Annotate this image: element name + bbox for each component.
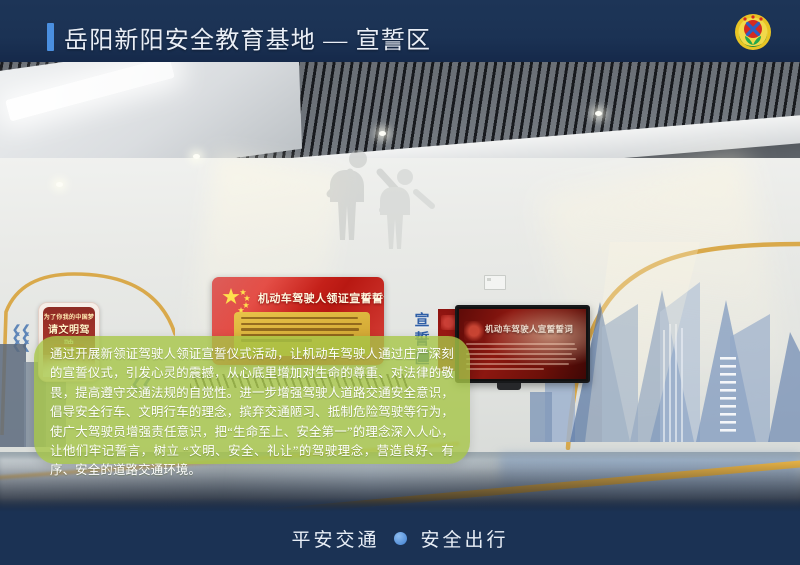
oath-board-title: 机动车驾驶人领证宣誓誓词 — [258, 290, 384, 306]
header-accent-bar — [47, 23, 54, 51]
display-title: 机动车驾驶人宣誓誓词 — [485, 323, 573, 335]
ceiling-spotlight-2 — [193, 154, 200, 159]
poster-line-1: 为了你我的中国梦 — [43, 312, 95, 321]
footer-slogan-left: 平安交通 — [291, 525, 379, 552]
display-mount — [497, 383, 521, 390]
vsign-char-1: 宣 — [411, 311, 433, 330]
display-body-text — [466, 343, 578, 373]
ceiling-spotlight-3 — [379, 131, 386, 136]
description-text: 通过开展新领证驾驶人领证宣誓仪式活动，让机动车驾驶人通过庄严深刻的宣誓仪式，引发… — [50, 345, 454, 481]
wall-mounted-display: 机动车驾驶人宣誓誓词 — [455, 305, 590, 383]
footer-fade — [0, 498, 800, 512]
traffic-police-emblem-icon — [733, 12, 773, 52]
page-header: 岳阳新阳安全教育基地 — 宣誓区 — [0, 0, 800, 62]
wall-control-panel — [484, 275, 506, 290]
ceiling-spotlight-4 — [595, 111, 602, 116]
ceiling-spotlight-1 — [56, 182, 63, 187]
people-figures-decal — [320, 142, 440, 257]
footer-separator-dot-icon — [394, 532, 407, 545]
party-emblem-partial-icon — [441, 315, 456, 330]
display-screen: 机动车驾驶人宣誓誓词 — [459, 309, 586, 379]
screen-party-emblem-icon — [464, 321, 484, 341]
description-callout: 通过开展新领证驾驶人领证宣誓仪式活动，让机动车驾驶人通过庄严深刻的宣誓仪式，引发… — [34, 336, 470, 464]
footer-slogan-right: 安全出行 — [421, 525, 509, 552]
page-title: 岳阳新阳安全教育基地 — 宣誓区 — [64, 20, 431, 55]
page-footer: 平安交通 安全出行 — [0, 512, 800, 565]
china-flag-stars-icon — [222, 287, 254, 313]
